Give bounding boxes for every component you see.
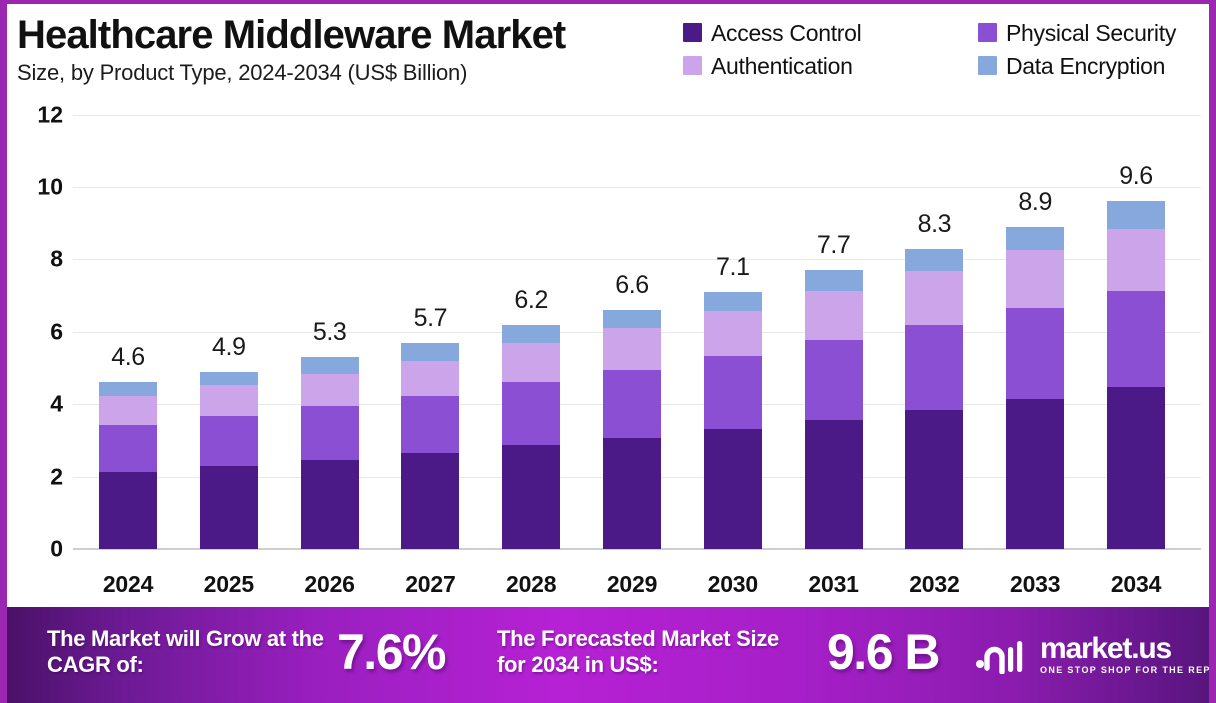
- bar-segment-authentication[interactable]: [1107, 229, 1165, 292]
- bar-segment-physical-security[interactable]: [603, 370, 661, 438]
- bar-segment-authentication[interactable]: [99, 396, 157, 425]
- legend-label: Authentication: [711, 53, 853, 79]
- bar-segment-access-control[interactable]: [200, 466, 258, 549]
- chart-header: Healthcare Middleware Market Size, by Pr…: [7, 4, 1209, 100]
- y-axis-tick-10: 10: [15, 174, 63, 201]
- page-title: Healthcare Middleware Market: [17, 12, 565, 58]
- bar-segment-physical-security[interactable]: [704, 356, 762, 429]
- bar-segment-physical-security[interactable]: [200, 416, 258, 466]
- bar-segment-physical-security[interactable]: [502, 382, 560, 446]
- bar-segment-authentication[interactable]: [301, 374, 359, 406]
- legend-swatch-icon: [683, 56, 702, 75]
- bar-segment-data-encryption[interactable]: [200, 372, 258, 385]
- page-subtitle: Size, by Product Type, 2024-2034 (US$ Bi…: [17, 59, 565, 87]
- bar-segment-access-control[interactable]: [1107, 387, 1165, 549]
- bar-segment-physical-security[interactable]: [301, 406, 359, 460]
- bar-segment-access-control[interactable]: [905, 410, 963, 549]
- bar-2024[interactable]: [99, 382, 157, 549]
- gridline: [73, 115, 1201, 116]
- x-axis-tick-2034: 2034: [1076, 571, 1196, 598]
- bar-segment-access-control[interactable]: [704, 429, 762, 549]
- bar-segment-authentication[interactable]: [401, 361, 459, 396]
- logo-tagline: ONE STOP SHOP FOR THE REPORTS: [1040, 664, 1216, 677]
- legend-item-authentication[interactable]: Authentication: [683, 53, 978, 79]
- market-us-logo: market.us ONE STOP SHOP FOR THE REPORTS: [975, 634, 1216, 677]
- bar-segment-access-control[interactable]: [99, 472, 157, 549]
- bar-segment-authentication[interactable]: [603, 328, 661, 370]
- legend-swatch-icon: [978, 23, 997, 42]
- bar-segment-authentication[interactable]: [805, 291, 863, 340]
- bar-2027[interactable]: [401, 343, 459, 549]
- chart-plot-area: 0246810124.620244.920255.320265.720276.2…: [7, 100, 1209, 606]
- cagr-value: 7.6%: [337, 623, 445, 681]
- bar-segment-access-control[interactable]: [502, 445, 560, 549]
- bar-segment-authentication[interactable]: [704, 311, 762, 356]
- bar-segment-data-encryption[interactable]: [805, 270, 863, 291]
- logo-wordmark: market.us: [1040, 634, 1216, 664]
- forecast-value: 9.6 B: [827, 623, 939, 681]
- bar-2029[interactable]: [603, 310, 661, 549]
- bar-segment-data-encryption[interactable]: [704, 292, 762, 311]
- logo-text: market.us ONE STOP SHOP FOR THE REPORTS: [1040, 634, 1216, 677]
- bar-segment-data-encryption[interactable]: [301, 357, 359, 374]
- bar-segment-physical-security[interactable]: [905, 325, 963, 410]
- bar-2033[interactable]: [1006, 227, 1064, 549]
- bar-segment-authentication[interactable]: [502, 343, 560, 382]
- bar-segment-data-encryption[interactable]: [1107, 201, 1165, 228]
- cagr-label: The Market will Grow at the CAGR of:: [47, 626, 337, 678]
- chart-legend: Access ControlPhysical SecurityAuthentic…: [683, 16, 1203, 82]
- y-axis-tick-6: 6: [15, 318, 63, 345]
- y-axis-tick-12: 12: [15, 101, 63, 128]
- y-axis-tick-2: 2: [15, 463, 63, 490]
- bar-segment-access-control[interactable]: [1006, 399, 1064, 549]
- bar-segment-authentication[interactable]: [905, 271, 963, 325]
- legend-item-physical-security[interactable]: Physical Security: [978, 20, 1203, 46]
- bar-segment-physical-security[interactable]: [99, 425, 157, 472]
- bar-segment-physical-security[interactable]: [401, 396, 459, 453]
- bar-segment-physical-security[interactable]: [805, 340, 863, 420]
- y-axis-tick-4: 4: [15, 391, 63, 418]
- legend-item-access-control[interactable]: Access Control: [683, 20, 978, 46]
- legend-label: Access Control: [711, 20, 861, 46]
- bar-2028[interactable]: [502, 325, 560, 549]
- bar-segment-access-control[interactable]: [805, 420, 863, 549]
- forecast-label: The Forecasted Market Size for 2034 in U…: [497, 626, 807, 678]
- legend-label: Physical Security: [1006, 20, 1176, 46]
- bar-segment-data-encryption[interactable]: [99, 382, 157, 395]
- bar-segment-physical-security[interactable]: [1006, 308, 1064, 399]
- bar-2032[interactable]: [905, 249, 963, 549]
- legend-swatch-icon: [978, 56, 997, 75]
- bar-segment-access-control[interactable]: [603, 438, 661, 549]
- bar-segment-access-control[interactable]: [301, 460, 359, 549]
- legend-swatch-icon: [683, 23, 702, 42]
- legend-label: Data Encryption: [1006, 53, 1165, 79]
- bar-2030[interactable]: [704, 292, 762, 549]
- bar-total-label-2033: 8.9: [975, 188, 1095, 217]
- logo-mark-icon: [975, 638, 1031, 674]
- y-axis-tick-0: 0: [15, 536, 63, 563]
- bar-2026[interactable]: [301, 357, 359, 549]
- bar-segment-data-encryption[interactable]: [603, 310, 661, 328]
- y-axis-tick-8: 8: [15, 246, 63, 273]
- title-block: Healthcare Middleware Market Size, by Pr…: [17, 12, 565, 87]
- bar-segment-access-control[interactable]: [401, 453, 459, 549]
- bar-segment-physical-security[interactable]: [1107, 291, 1165, 387]
- bar-segment-data-encryption[interactable]: [1006, 227, 1064, 251]
- bar-segment-data-encryption[interactable]: [905, 249, 963, 271]
- infographic-page: Healthcare Middleware Market Size, by Pr…: [0, 0, 1216, 703]
- bar-2025[interactable]: [200, 372, 258, 549]
- bar-segment-authentication[interactable]: [200, 385, 258, 416]
- bar-2034[interactable]: [1107, 201, 1165, 549]
- bar-total-label-2034: 9.6: [1076, 162, 1196, 191]
- bar-segment-data-encryption[interactable]: [401, 343, 459, 361]
- bar-2031[interactable]: [805, 270, 863, 549]
- bar-segment-authentication[interactable]: [1006, 250, 1064, 308]
- legend-item-data-encryption[interactable]: Data Encryption: [978, 53, 1203, 79]
- bar-segment-data-encryption[interactable]: [502, 325, 560, 343]
